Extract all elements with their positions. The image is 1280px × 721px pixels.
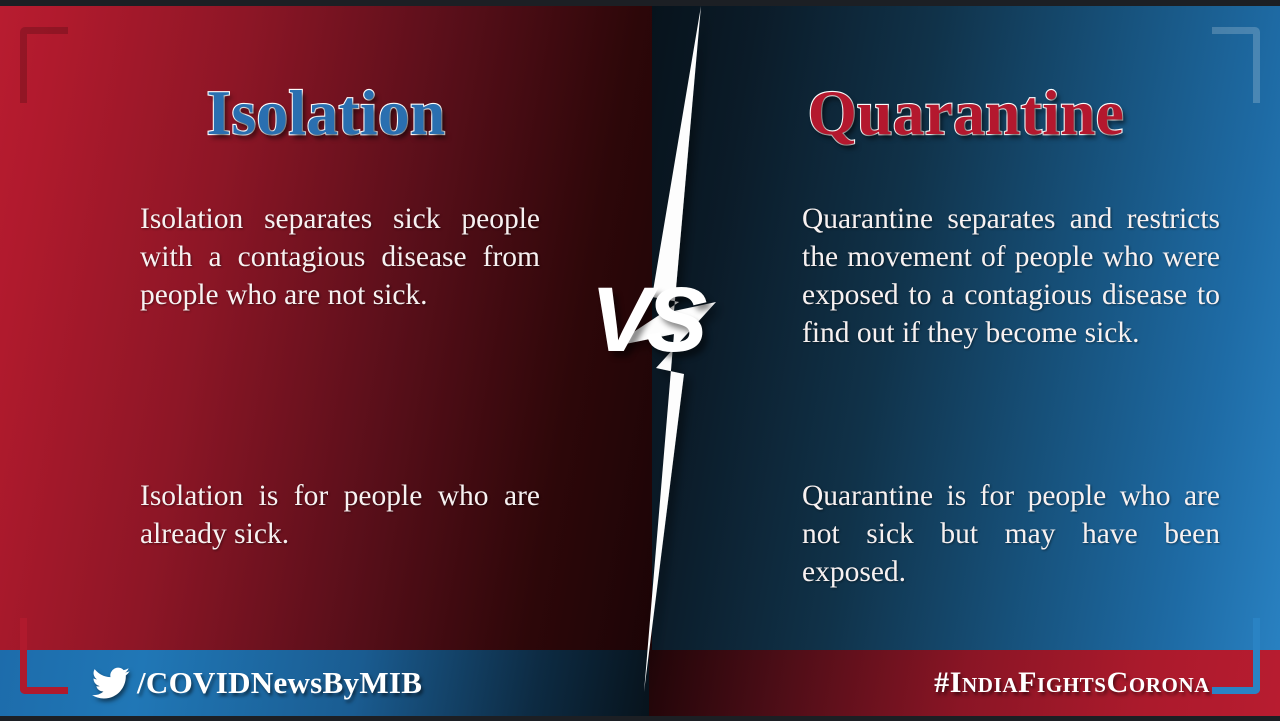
left-panel-title: Isolation <box>0 82 652 145</box>
hashtag-text: #IndiaFightsCorona <box>934 666 1210 700</box>
left-panel-paragraph-1: Isolation separates sick people with a c… <box>140 200 540 314</box>
versus-label: VS <box>556 274 736 366</box>
twitter-handle-text: /COVIDNewsByMIB <box>137 665 422 701</box>
left-panel: Isolation <box>0 6 652 656</box>
corner-bracket-bottom-left <box>20 618 68 694</box>
left-panel-paragraph-2: Isolation is for people who are already … <box>140 477 540 553</box>
infographic-poster: Isolation Quarantine Isolation separates… <box>0 0 1280 721</box>
footer-bar: /COVIDNewsByMIB #IndiaFightsCorona <box>0 650 1280 716</box>
right-panel-paragraph-2: Quarantine is for people who are not sic… <box>802 477 1220 591</box>
corner-bracket-bottom-right <box>1212 618 1260 694</box>
right-panel-paragraph-1: Quarantine separates and restricts the m… <box>802 200 1220 352</box>
twitter-bird-icon <box>92 667 130 699</box>
twitter-handle-group[interactable]: /COVIDNewsByMIB <box>92 665 422 701</box>
right-panel-title: Quarantine <box>652 82 1280 145</box>
